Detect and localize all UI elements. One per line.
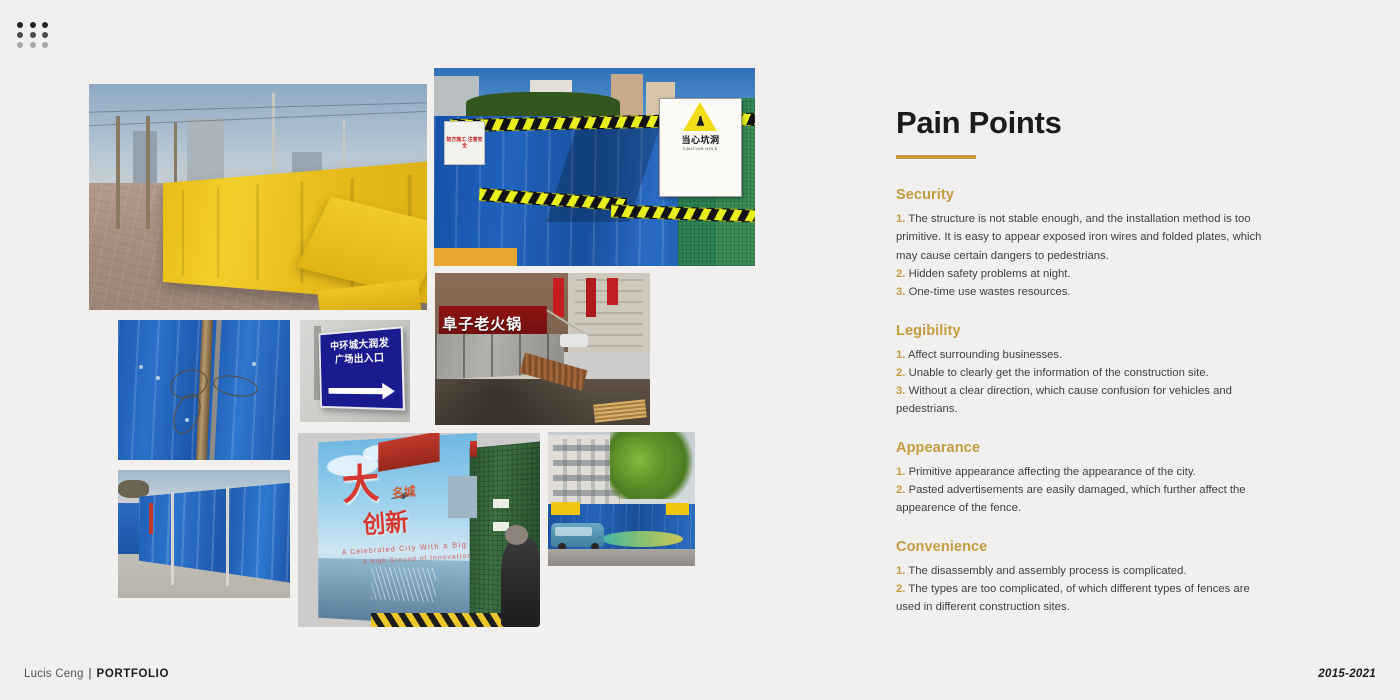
shop-sign-text: 阜子老火锅 bbox=[442, 313, 522, 334]
billboard-subline-cn: 创新 bbox=[362, 502, 410, 541]
pain-point-item-number: 1. bbox=[896, 565, 905, 577]
fence-post bbox=[226, 487, 229, 587]
warning-triangle-icon bbox=[683, 102, 717, 131]
fence-post-cap bbox=[470, 441, 477, 457]
direction-sign-line2: 广场出入口 bbox=[325, 351, 398, 368]
fence-post bbox=[171, 493, 174, 585]
footer-separator: | bbox=[89, 668, 92, 680]
pain-point-item: 2. Hidden safety problems at night. bbox=[896, 265, 1266, 283]
billboard-poster: 大 创新 名城 A Celebrated City With a Big Lak… bbox=[318, 433, 477, 627]
caution-hole-sign-en: CAUTION HOLE bbox=[663, 146, 738, 151]
bare-tree bbox=[116, 116, 120, 229]
billboard-small-cn: 名城 bbox=[391, 481, 415, 501]
photo-scenic-billboard-fence: 大 创新 名城 A Celebrated City With a Big Lak… bbox=[298, 433, 540, 627]
pasted-notice-card bbox=[493, 499, 509, 508]
pain-point-item: 2. Unable to clearly get the information… bbox=[896, 364, 1266, 382]
pain-point-section-heading: Convenience bbox=[896, 539, 1266, 555]
pain-point-item: 2. The types are too complicated, of whi… bbox=[896, 580, 1266, 617]
photo-collage: 前方施工 注意安全 当心坑洞 CAUTION HOLE bbox=[0, 0, 800, 700]
red-marker-strip bbox=[149, 503, 153, 534]
green-tree bbox=[607, 437, 666, 488]
pain-point-item-text: Affect surrounding businesses. bbox=[908, 349, 1062, 361]
pain-point-section-heading: Legibility bbox=[896, 323, 1266, 339]
pain-point-item: 2. Pasted advertisements are easily dama… bbox=[896, 481, 1266, 518]
pain-point-item-number: 2. bbox=[896, 484, 905, 496]
photo-blue-fence-sidewalk bbox=[118, 470, 290, 598]
pain-point-item: 1. The disassembly and assembly process … bbox=[896, 562, 1266, 580]
pain-point-section: Security1. The structure is not stable e… bbox=[896, 187, 1266, 301]
pain-points-panel: Pain Points Security1. The structure is … bbox=[896, 106, 1266, 638]
pain-point-item: 1. Primitive appearance affecting the ap… bbox=[896, 463, 1266, 481]
footer-years: 2015-2021 bbox=[1318, 668, 1376, 680]
pain-point-item-number: 1. bbox=[896, 213, 905, 225]
photo-blue-fence-rusty-pole bbox=[118, 320, 290, 460]
caution-hole-sign-cn: 当心坑洞 bbox=[663, 133, 738, 146]
right-arrow-icon bbox=[329, 385, 396, 397]
pain-point-item-number: 3. bbox=[896, 385, 905, 397]
pain-point-item-number: 3. bbox=[896, 286, 905, 298]
pain-point-item-number: 2. bbox=[896, 268, 905, 280]
pain-point-item-text: One-time use wastes resources. bbox=[909, 286, 1071, 298]
photo-blue-direction-sign: 中环城大润发 广场出入口 bbox=[300, 320, 410, 422]
pedestrian bbox=[501, 538, 540, 627]
yellow-black-kerb-marking bbox=[371, 613, 507, 627]
distant-skyline bbox=[448, 476, 477, 519]
photo-yellow-plastic-barriers bbox=[89, 84, 427, 310]
photo-blue-fence-caution-tape: 前方施工 注意安全 当心坑洞 CAUTION HOLE bbox=[434, 68, 755, 266]
orange-base-block bbox=[434, 248, 517, 266]
pain-point-item-text: Without a clear direction, which cause c… bbox=[896, 385, 1232, 415]
red-ribbon-graphic bbox=[378, 433, 439, 472]
caution-hole-sign: 当心坑洞 CAUTION HOLE bbox=[659, 98, 742, 197]
pain-point-section: Convenience1. The disassembly and assemb… bbox=[896, 539, 1266, 617]
parked-car bbox=[560, 334, 588, 348]
direction-sign-board: 中环城大润发 广场出入口 bbox=[319, 326, 405, 410]
tree-line bbox=[118, 480, 149, 498]
fixing-bolt bbox=[139, 365, 143, 369]
footer-left: Lucis Ceng | PORTFOLIO bbox=[24, 668, 169, 680]
pain-point-item-text: The structure is not stable enough, and … bbox=[896, 213, 1261, 262]
vertical-red-banner bbox=[607, 278, 618, 305]
pain-point-item-number: 1. bbox=[896, 466, 905, 478]
pain-point-item-text: The types are too complicated, of which … bbox=[896, 583, 1250, 613]
road-surface bbox=[548, 549, 695, 566]
cable-bridge-graphic bbox=[372, 566, 436, 602]
pain-point-item: 3. One-time use wastes resources. bbox=[896, 283, 1266, 301]
pain-point-item: 3. Without a clear direction, which caus… bbox=[896, 382, 1266, 419]
pain-point-item-text: The disassembly and assembly process is … bbox=[908, 565, 1186, 577]
pain-points-sections: Security1. The structure is not stable e… bbox=[896, 187, 1266, 616]
pain-point-section-heading: Security bbox=[896, 187, 1266, 203]
vertical-red-banner bbox=[586, 278, 597, 318]
photo-shop-street-excavation: 阜子老火锅 bbox=[435, 273, 650, 425]
front-construction-sign-text: 前方施工 注意安全 bbox=[445, 137, 485, 150]
front-construction-notice-sign: 前方施工 注意安全 bbox=[444, 121, 486, 165]
yellow-shop-sign bbox=[666, 503, 690, 515]
pain-point-item-text: Unable to clearly get the information of… bbox=[909, 367, 1209, 379]
footer-brand: PORTFOLIO bbox=[97, 668, 169, 680]
pain-point-item-text: Pasted advertisements are easily damaged… bbox=[896, 484, 1246, 514]
fixing-bolt bbox=[156, 376, 160, 380]
pain-point-item: 1. Affect surrounding businesses. bbox=[896, 346, 1266, 364]
yellow-shop-sign bbox=[551, 502, 580, 515]
pain-point-item-number: 1. bbox=[896, 349, 905, 361]
pain-point-section: Legibility1. Affect surrounding business… bbox=[896, 323, 1266, 419]
pain-point-item-number: 2. bbox=[896, 367, 905, 379]
footer-author: Lucis Ceng bbox=[24, 668, 84, 680]
billboard-headline-cn: 大 bbox=[340, 449, 382, 512]
bare-tree bbox=[146, 116, 150, 229]
pain-point-section: Appearance1. Primitive appearance affect… bbox=[896, 440, 1266, 518]
pain-point-item-text: Primitive appearance affecting the appea… bbox=[909, 466, 1196, 478]
photo-street-hoarding-van bbox=[548, 432, 695, 566]
title-underline-rule bbox=[896, 155, 976, 159]
page-title: Pain Points bbox=[896, 106, 1266, 140]
pain-point-section-heading: Appearance bbox=[896, 440, 1266, 456]
vertical-red-banner bbox=[553, 278, 564, 318]
pain-point-item-text: Hidden safety problems at night. bbox=[909, 268, 1071, 280]
pain-point-item-number: 2. bbox=[896, 583, 905, 595]
pain-point-item: 1. The structure is not stable enough, a… bbox=[896, 210, 1266, 265]
